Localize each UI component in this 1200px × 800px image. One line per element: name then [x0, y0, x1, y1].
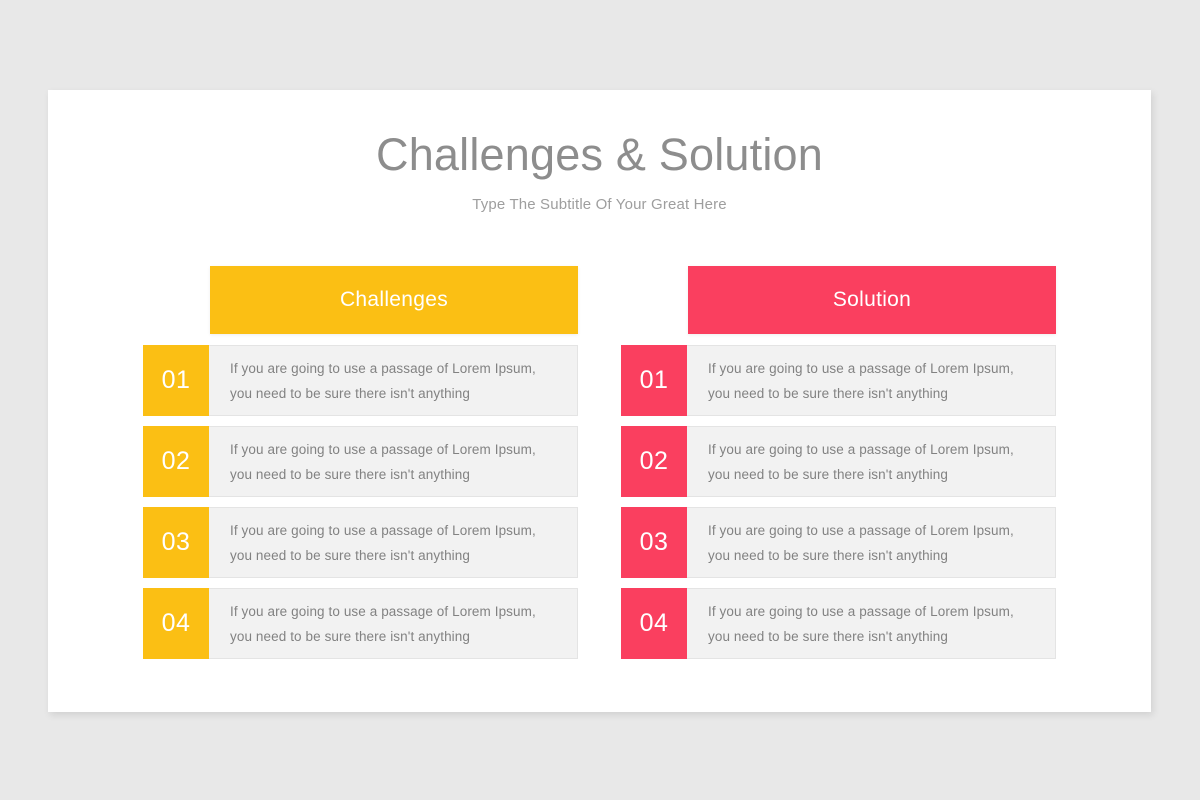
item-text: If you are going to use a passage of Lor…	[708, 437, 1035, 487]
item-body: If you are going to use a passage of Lor…	[209, 507, 578, 578]
item-number-badge: 04	[621, 588, 687, 659]
list-item[interactable]: 02 If you are going to use a passage of …	[621, 426, 1056, 497]
column-solution: Solution 01 If you are going to use a pa…	[621, 266, 1056, 669]
column-challenges: Challenges 01 If you are going to use a …	[143, 266, 578, 669]
item-body: If you are going to use a passage of Lor…	[687, 588, 1056, 659]
rows-solution: 01 If you are going to use a passage of …	[621, 345, 1056, 659]
item-text: If you are going to use a passage of Lor…	[708, 356, 1035, 406]
item-number-badge: 03	[621, 507, 687, 578]
column-header-solution[interactable]: Solution	[688, 266, 1056, 334]
item-text: If you are going to use a passage of Lor…	[230, 599, 557, 649]
list-item[interactable]: 02 If you are going to use a passage of …	[143, 426, 578, 497]
item-number-badge: 04	[143, 588, 209, 659]
item-body: If you are going to use a passage of Lor…	[687, 345, 1056, 416]
item-text: If you are going to use a passage of Lor…	[230, 518, 557, 568]
item-body: If you are going to use a passage of Lor…	[209, 426, 578, 497]
item-number-badge: 02	[143, 426, 209, 497]
page-title: Challenges & Solution	[48, 130, 1151, 180]
item-number-badge: 03	[143, 507, 209, 578]
item-text: If you are going to use a passage of Lor…	[230, 356, 557, 406]
slide-canvas: Challenges & Solution Type The Subtitle …	[0, 0, 1200, 800]
heading-block: Challenges & Solution Type The Subtitle …	[48, 130, 1151, 213]
list-item[interactable]: 04 If you are going to use a passage of …	[143, 588, 578, 659]
list-item[interactable]: 03 If you are going to use a passage of …	[621, 507, 1056, 578]
list-item[interactable]: 04 If you are going to use a passage of …	[621, 588, 1056, 659]
item-number-badge: 02	[621, 426, 687, 497]
column-header-challenges[interactable]: Challenges	[210, 266, 578, 334]
list-item[interactable]: 03 If you are going to use a passage of …	[143, 507, 578, 578]
item-text: If you are going to use a passage of Lor…	[230, 437, 557, 487]
item-body: If you are going to use a passage of Lor…	[687, 507, 1056, 578]
columns-container: Challenges 01 If you are going to use a …	[48, 266, 1151, 666]
slide-card: Challenges & Solution Type The Subtitle …	[48, 90, 1151, 712]
item-text: If you are going to use a passage of Lor…	[708, 518, 1035, 568]
item-text: If you are going to use a passage of Lor…	[708, 599, 1035, 649]
item-number-badge: 01	[621, 345, 687, 416]
item-body: If you are going to use a passage of Lor…	[209, 345, 578, 416]
item-number-badge: 01	[143, 345, 209, 416]
item-body: If you are going to use a passage of Lor…	[687, 426, 1056, 497]
page-subtitle: Type The Subtitle Of Your Great Here	[48, 196, 1151, 213]
list-item[interactable]: 01 If you are going to use a passage of …	[621, 345, 1056, 416]
list-item[interactable]: 01 If you are going to use a passage of …	[143, 345, 578, 416]
rows-challenges: 01 If you are going to use a passage of …	[143, 345, 578, 659]
item-body: If you are going to use a passage of Lor…	[209, 588, 578, 659]
